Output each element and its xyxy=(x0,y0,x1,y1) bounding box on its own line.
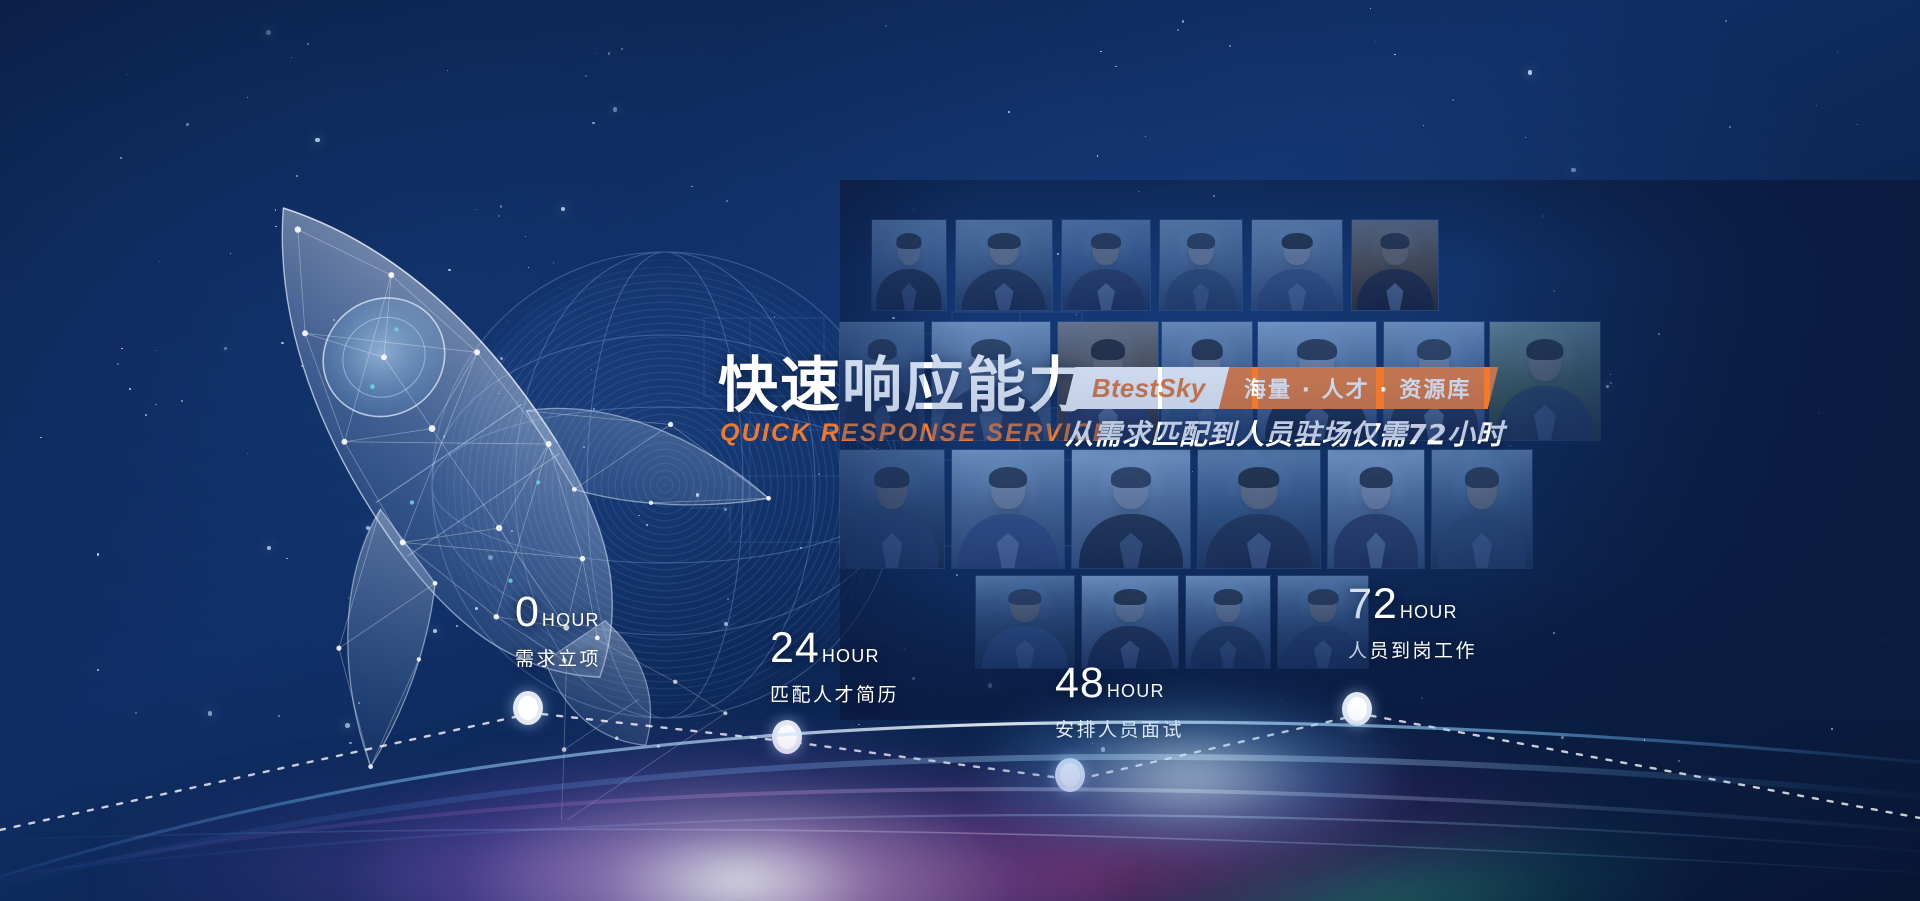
portrait-photo xyxy=(1490,322,1600,440)
photo-tile xyxy=(1186,576,1270,668)
portrait-hair xyxy=(1297,339,1337,360)
portrait-photo xyxy=(840,450,944,568)
portrait-photo xyxy=(1062,220,1150,310)
portrait-photo xyxy=(1258,322,1376,440)
portrait-torso xyxy=(1088,626,1172,668)
portrait-hair xyxy=(1465,467,1499,488)
portrait-torso xyxy=(1357,269,1433,310)
portrait-photo xyxy=(1198,450,1320,568)
portrait-torso xyxy=(959,514,1058,568)
portrait-photo xyxy=(1082,576,1178,668)
portrait-torso xyxy=(1191,626,1265,668)
portrait-collar xyxy=(1386,283,1403,310)
portrait-torso xyxy=(1390,386,1478,440)
portrait-head xyxy=(1010,591,1039,622)
portrait-photo xyxy=(952,450,1064,568)
photo-tile xyxy=(1160,220,1242,310)
portrait-torso xyxy=(1165,269,1237,310)
portrait-head xyxy=(1299,341,1334,381)
portrait-collar xyxy=(874,405,891,440)
portrait-hair xyxy=(874,467,909,488)
portrait-head xyxy=(1194,341,1221,381)
portrait-hair xyxy=(971,339,1011,360)
photo-tile xyxy=(1162,322,1252,440)
portrait-collar xyxy=(1305,405,1329,440)
portrait-torso xyxy=(876,269,941,310)
portrait-hair xyxy=(1192,339,1223,360)
portrait-hair xyxy=(1282,233,1313,249)
portrait-head xyxy=(898,234,920,265)
portrait-collar xyxy=(902,283,917,310)
portrait-hair xyxy=(1526,339,1563,360)
portrait-hair xyxy=(1360,467,1393,488)
portrait-head xyxy=(973,341,1008,381)
portrait-collar xyxy=(1119,533,1143,568)
portrait-head xyxy=(1467,469,1497,509)
photo-tile xyxy=(1258,322,1376,440)
portrait-head xyxy=(1215,591,1240,622)
portrait-torso xyxy=(1067,269,1144,310)
portrait-head xyxy=(1113,469,1148,509)
portrait-hair xyxy=(1308,589,1339,606)
aurora-light-arcs xyxy=(0,641,1920,901)
photo-tile xyxy=(976,576,1074,668)
portrait-photo xyxy=(1072,450,1190,568)
portrait-photo xyxy=(1352,220,1438,310)
portrait-head xyxy=(1189,234,1214,265)
portrait-torso xyxy=(982,626,1068,668)
portrait-torso xyxy=(962,269,1046,310)
portrait-torso xyxy=(1497,386,1594,440)
portrait-collar xyxy=(1097,283,1115,310)
portrait-torso xyxy=(1167,386,1246,440)
photo-tile xyxy=(932,322,1050,440)
photo-tile xyxy=(1278,576,1368,668)
portrait-head xyxy=(1362,469,1391,509)
portrait-hair xyxy=(1380,233,1409,249)
photo-tile xyxy=(872,220,946,310)
portrait-hair xyxy=(1417,339,1451,360)
portrait-torso xyxy=(939,386,1043,440)
portrait-photo xyxy=(1328,450,1424,568)
portrait-collar xyxy=(1534,405,1556,440)
portrait-head xyxy=(1529,341,1562,381)
portrait-head xyxy=(1093,341,1123,381)
portrait-hair xyxy=(1114,589,1147,606)
portrait-photo xyxy=(840,322,924,440)
portrait-photo xyxy=(956,220,1052,310)
portrait-collar xyxy=(1366,533,1385,568)
portrait-photo xyxy=(1058,322,1158,440)
portrait-collar xyxy=(1220,640,1237,668)
portrait-collar xyxy=(1314,640,1332,668)
photo-tile xyxy=(1432,450,1532,568)
photo-tile xyxy=(1252,220,1342,310)
portrait-head xyxy=(1310,591,1337,622)
portrait-torso xyxy=(1283,626,1362,668)
photo-tile xyxy=(840,450,944,568)
portrait-hair xyxy=(988,233,1021,249)
portrait-collar xyxy=(1015,640,1035,668)
portrait-photo xyxy=(1384,322,1484,440)
portrait-torso xyxy=(1265,386,1369,440)
portrait-photo xyxy=(1278,576,1368,668)
photo-tile xyxy=(1082,576,1178,668)
timeline-hours-row: 0HOUR xyxy=(515,588,601,637)
portrait-head xyxy=(876,469,907,509)
portrait-torso xyxy=(1257,269,1336,310)
portrait-collar xyxy=(1193,283,1209,310)
portrait-torso xyxy=(845,386,919,440)
aurora-core-glow-right xyxy=(980,691,1400,861)
portrait-torso xyxy=(1438,514,1526,568)
portrait-hair xyxy=(1091,339,1125,360)
portrait-photo xyxy=(1162,322,1252,440)
portrait-head xyxy=(1419,341,1449,381)
portrait-collar xyxy=(1198,405,1216,440)
portrait-hair xyxy=(1238,467,1279,488)
portrait-hair xyxy=(1111,467,1151,488)
timeline-hours-unit: HOUR xyxy=(1400,602,1458,623)
portrait-torso xyxy=(1064,386,1152,440)
banner-stage: 快速响应能力 QUICK RESPONSE SERVICE 从需求匹配到人员驻场… xyxy=(0,0,1920,901)
photo-tile xyxy=(1328,450,1424,568)
portrait-hair xyxy=(1187,233,1215,249)
portrait-torso xyxy=(846,514,938,568)
portrait-hair xyxy=(896,233,921,249)
portrait-photo xyxy=(1432,450,1532,568)
portrait-head xyxy=(1093,234,1119,265)
photo-tile xyxy=(1072,450,1190,568)
photo-tile xyxy=(1058,322,1158,440)
portrait-hair xyxy=(1214,589,1243,606)
photo-tile xyxy=(952,450,1064,568)
portrait-collar xyxy=(882,533,903,568)
portrait-torso xyxy=(1334,514,1418,568)
portrait-photo xyxy=(1160,220,1242,310)
portrait-hair xyxy=(989,467,1027,488)
portrait-photo xyxy=(932,322,1050,440)
timeline-hours-unit: HOUR xyxy=(542,610,600,631)
portrait-head xyxy=(991,469,1025,509)
timeline-hours-value: 0 xyxy=(515,588,540,637)
portrait-hair xyxy=(1008,589,1041,606)
portrait-head xyxy=(1241,469,1278,509)
portrait-head xyxy=(1284,234,1311,265)
portrait-head xyxy=(1382,234,1408,265)
portrait-photo xyxy=(1186,576,1270,668)
portrait-collar xyxy=(1472,533,1492,568)
photo-tile xyxy=(840,322,924,440)
portrait-collar xyxy=(1247,533,1271,568)
portrait-head xyxy=(1116,591,1145,622)
portrait-hair xyxy=(1091,233,1121,249)
photo-tile xyxy=(1062,220,1150,310)
portrait-head xyxy=(990,234,1019,265)
portrait-collar xyxy=(994,283,1013,310)
portrait-collar xyxy=(979,405,1003,440)
portrait-torso xyxy=(1205,514,1312,568)
portrait-collar xyxy=(1288,283,1306,310)
portrait-collar xyxy=(1098,405,1118,440)
portrait-collar xyxy=(1120,640,1139,668)
portrait-collar xyxy=(997,533,1019,568)
portrait-hair xyxy=(868,339,897,360)
photo-tile xyxy=(1352,220,1438,310)
portrait-collar xyxy=(1424,405,1444,440)
photo-tile xyxy=(1490,322,1600,440)
portrait-head xyxy=(869,341,894,381)
portrait-torso xyxy=(1079,514,1183,568)
portrait-photo xyxy=(872,220,946,310)
photo-tile xyxy=(1384,322,1484,440)
photo-tile xyxy=(956,220,1052,310)
portrait-photo xyxy=(976,576,1074,668)
portrait-photo xyxy=(1252,220,1342,310)
photo-tile xyxy=(1198,450,1320,568)
